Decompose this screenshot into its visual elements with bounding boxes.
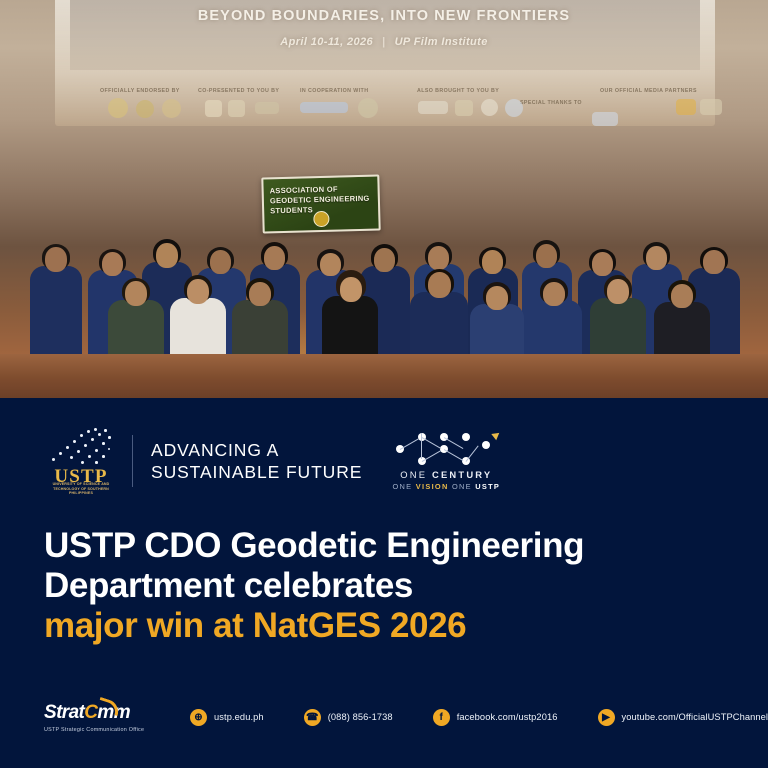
century-one2: ONE [392,482,415,491]
stratcomm-logo: StratCmm USTP Strategic Communication Of… [44,700,156,734]
screen-detail-separator: | [373,36,394,48]
contact-youtube[interactable]: ▶ youtube.com/OfficialUSTPChannel [598,709,768,726]
stratcomm-strat: Strat [44,702,84,723]
stratcomm-c: C [84,702,97,723]
headline-line-3: major win at NatGES 2026 [44,606,634,646]
century-vision: VISION [416,482,449,491]
contact-website[interactable]: ⊕ ustp.edu.ph [190,709,288,726]
century-one3: ONE [449,482,476,491]
advancing-tagline-line1: ADVANCING A [151,440,279,460]
poster-canvas: BEYOND BOUNDARIES, INTO NEW FRONTIERS Ap… [0,0,768,768]
info-panel: USTP UNIVERSITY OF SCIENCE AND TECHNOLOG… [0,398,768,768]
century-ustp: USTP [475,482,500,491]
brand-row: USTP UNIVERSITY OF SCIENCE AND TECHNOLOG… [44,425,502,497]
century-one: ONE [400,469,432,480]
one-century-logo: ONE CENTURY ONE VISION ONE USTP [392,429,502,493]
screen-event-title: BEYOND BOUNDARIES, INTO NEW FRONTIERS [0,8,768,24]
advancing-tagline-line2: SUSTAINABLE FUTURE [151,462,362,482]
organization-seal [313,211,329,227]
contact-facebook-text: facebook.com/ustp2016 [457,712,558,722]
contact-facebook[interactable]: f facebook.com/ustp2016 [433,709,582,726]
facebook-icon: f [433,709,450,726]
screen-event-details: April 10-11, 2026|UP Film Institute [0,36,768,48]
contact-phone[interactable]: ☎ (088) 856-1738 [304,709,417,726]
event-group-photo: BEYOND BOUNDARIES, INTO NEW FRONTIERS Ap… [0,0,768,398]
student-group: ASSOCIATION OF GEODETIC ENGINEERING STUD… [0,62,768,362]
page-title: USTP CDO Geodetic Engineering Department… [44,526,634,646]
advancing-tagline: ADVANCING A SUSTAINABLE FUTURE [151,439,362,483]
ustp-dot-pattern [50,428,112,470]
headline-line-2: Department celebrates [44,566,634,606]
century-network-graphic [392,431,500,471]
organization-banner: ASSOCIATION OF GEODETIC ENGINEERING STUD… [261,174,380,233]
globe-icon: ⊕ [190,709,207,726]
footer-contact-bar: StratCmm USTP Strategic Communication Of… [44,700,768,734]
contact-website-text: ustp.edu.ph [214,712,264,722]
ustp-tagline: UNIVERSITY OF SCIENCE AND TECHNOLOGY OF … [44,482,118,496]
century-word: CENTURY [432,469,492,480]
stratcomm-subtitle: USTP Strategic Communication Office [44,727,144,733]
youtube-icon: ▶ [598,709,615,726]
contact-phone-text: (088) 856-1738 [328,712,393,722]
century-arrow-icon [492,430,502,441]
screen-event-date: April 10-11, 2026 [280,36,373,48]
contact-youtube-text: youtube.com/OfficialUSTPChannel [622,712,768,722]
century-line2: ONE VISION ONE USTP [392,482,500,491]
ustp-logo: USTP UNIVERSITY OF SCIENCE AND TECHNOLOG… [44,426,118,496]
brand-divider [132,435,133,487]
century-line1: ONE CENTURY [392,469,500,480]
phone-icon: ☎ [304,709,321,726]
stage-floor [0,354,768,398]
headline-line-1: USTP CDO Geodetic Engineering [44,526,634,566]
screen-event-venue: UP Film Institute [395,36,488,48]
